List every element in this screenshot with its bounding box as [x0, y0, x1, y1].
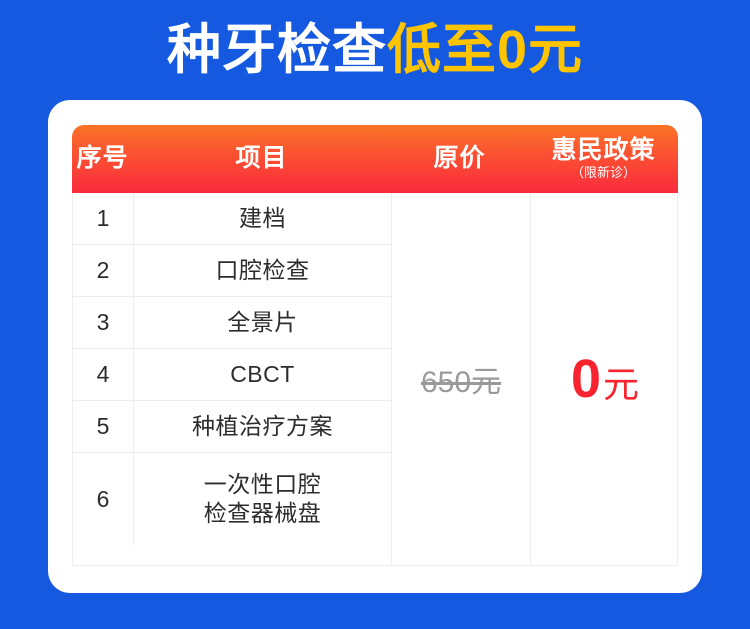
table-header-label-index: 序号 — [76, 145, 128, 173]
table-header-cell-original-price: 原价 — [390, 145, 529, 173]
promo-price-number: 0 — [571, 352, 601, 406]
price-card: 序号 项目 原价 惠民政策 （限新诊） 1 建档 2 — [48, 100, 702, 593]
table-header-label-item: 项目 — [235, 145, 287, 173]
table-cell-original-price: 650元 — [391, 193, 530, 565]
page-title: 种牙检查低至0元 — [167, 23, 583, 77]
table-cell-item: 种植治疗方案 — [134, 401, 391, 452]
table-row: 1 建档 — [73, 193, 391, 245]
table-cell-index: 2 — [73, 245, 134, 296]
table-header-row: 序号 项目 原价 惠民政策 （限新诊） — [72, 125, 678, 193]
table-row: 4 CBCT — [73, 349, 391, 401]
table-row: 6 一次性口腔 检查器械盘 — [73, 453, 391, 545]
table-cell-index: 5 — [73, 401, 134, 452]
original-price-value: 650元 — [421, 357, 501, 401]
promo-price-unit: 元 — [603, 367, 639, 403]
price-table: 序号 项目 原价 惠民政策 （限新诊） 1 建档 2 — [72, 125, 678, 566]
table-cell-item-line2: 检查器械盘 — [204, 499, 322, 528]
table-cell-promo-price: 0元 — [530, 193, 679, 565]
table-cell-index: 1 — [73, 193, 134, 244]
page-title-highlight: 低至0元 — [387, 23, 583, 77]
promo-price-value: 0元 — [571, 352, 639, 406]
table-cell-index: 6 — [73, 453, 134, 545]
table-cell-item: 口腔检查 — [134, 245, 391, 296]
table-body: 1 建档 2 口腔检查 3 全景片 4 CBCT 5 种植治疗方案 — [72, 193, 678, 566]
table-cell-item-line1: 一次性口腔 — [204, 470, 322, 499]
table-cell-item: 一次性口腔 检查器械盘 — [134, 453, 391, 545]
table-cell-index: 3 — [73, 297, 134, 348]
table-header-sublabel-promo: （限新诊） — [571, 165, 636, 181]
table-cell-item: CBCT — [134, 349, 391, 400]
table-header-label-promo: 惠民政策 — [551, 137, 655, 165]
table-header-cell-promo: 惠民政策 （限新诊） — [529, 137, 678, 181]
table-cell-item: 建档 — [134, 193, 391, 244]
table-rows-group: 1 建档 2 口腔检查 3 全景片 4 CBCT 5 种植治疗方案 — [73, 193, 391, 565]
table-cell-item: 全景片 — [134, 297, 391, 348]
table-header-cell-item: 项目 — [133, 145, 390, 173]
table-row: 3 全景片 — [73, 297, 391, 349]
banner: 种牙检查低至0元 — [0, 0, 750, 100]
page-title-primary: 种牙检查 — [167, 23, 387, 77]
table-row: 5 种植治疗方案 — [73, 401, 391, 453]
table-cell-index: 4 — [73, 349, 134, 400]
table-header-label-original-price: 原价 — [433, 145, 485, 173]
table-header-cell-index: 序号 — [72, 145, 133, 173]
table-row: 2 口腔检查 — [73, 245, 391, 297]
